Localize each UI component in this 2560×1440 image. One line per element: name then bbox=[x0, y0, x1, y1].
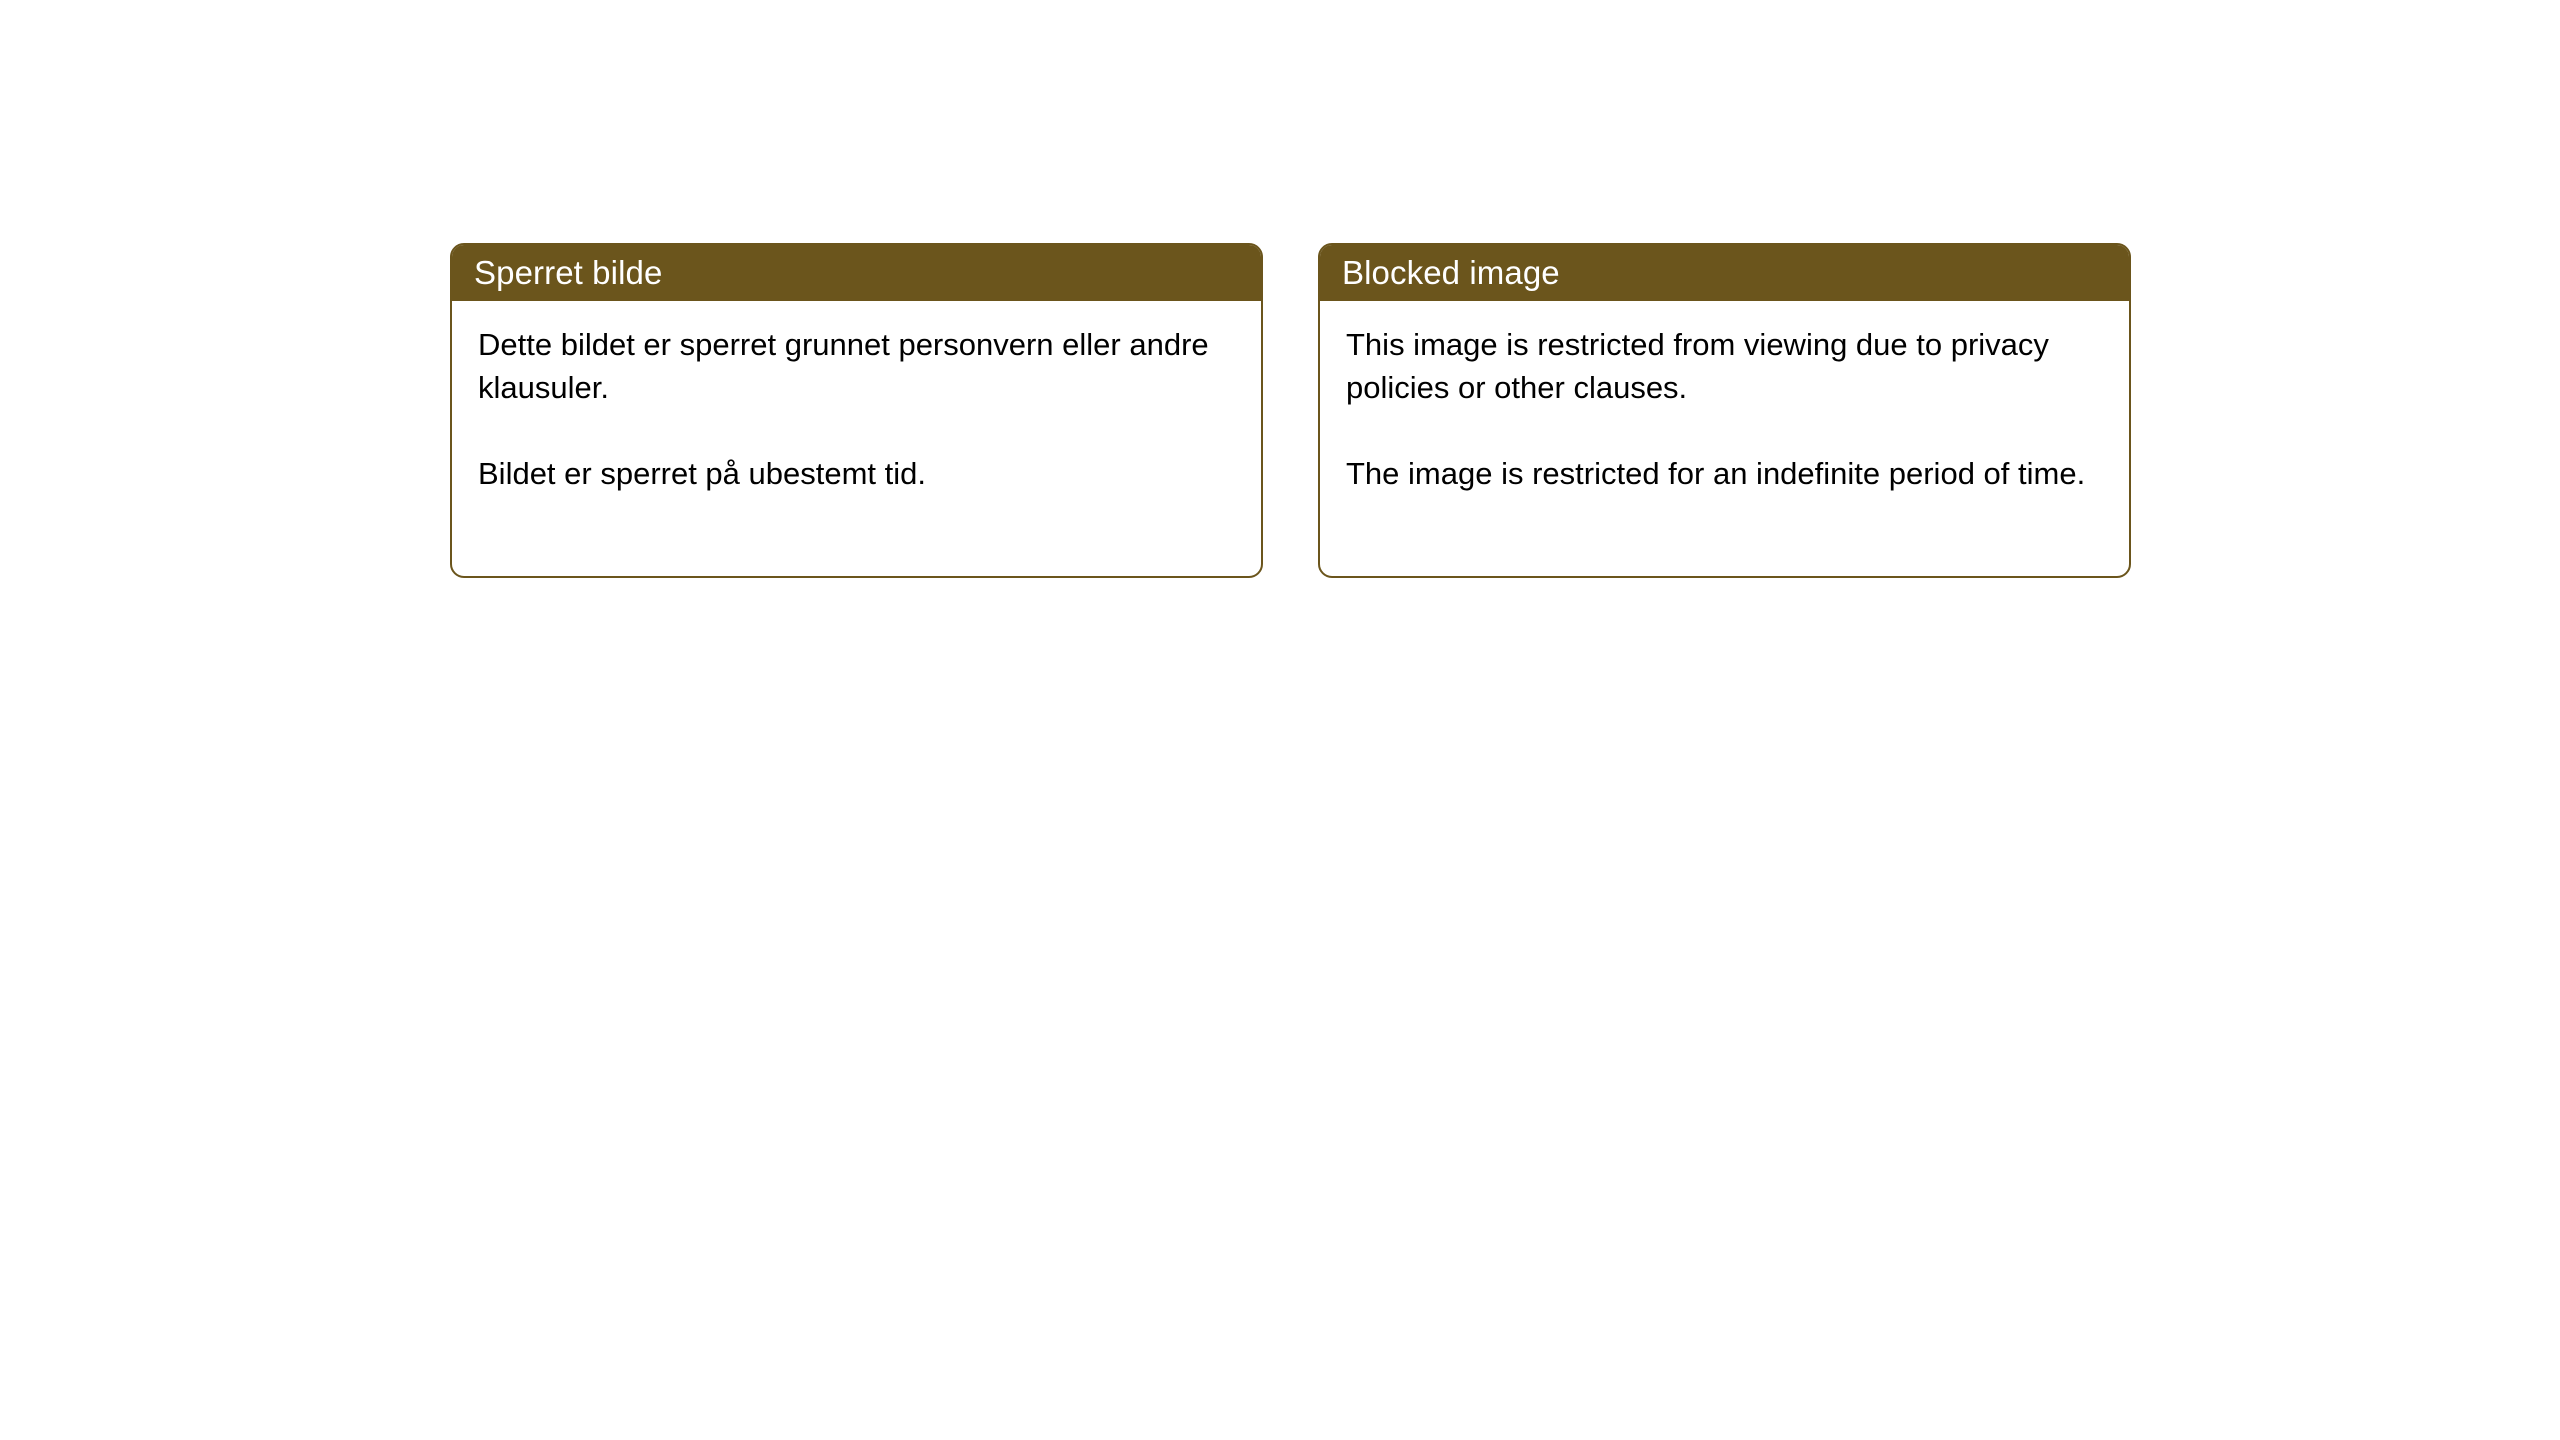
card-header-english: Blocked image bbox=[1318, 243, 2131, 301]
blocked-image-card-norwegian: Sperret bilde Dette bildet er sperret gr… bbox=[450, 243, 1263, 578]
card-paragraph-primary-norwegian: Dette bildet er sperret grunnet personve… bbox=[478, 323, 1235, 409]
card-title-english: Blocked image bbox=[1342, 256, 1560, 289]
card-paragraph-secondary-norwegian: Bildet er sperret på ubestemt tid. bbox=[478, 452, 1235, 495]
card-paragraph-primary-english: This image is restricted from viewing du… bbox=[1346, 323, 2103, 409]
paragraph-spacer bbox=[1346, 409, 2103, 452]
card-paragraph-secondary-english: The image is restricted for an indefinit… bbox=[1346, 452, 2103, 495]
blocked-image-notice-group: Sperret bilde Dette bildet er sperret gr… bbox=[450, 243, 2131, 578]
card-body-english: This image is restricted from viewing du… bbox=[1320, 301, 2129, 576]
card-title-norwegian: Sperret bilde bbox=[474, 256, 662, 289]
card-header-norwegian: Sperret bilde bbox=[450, 243, 1263, 301]
blocked-image-card-english: Blocked image This image is restricted f… bbox=[1318, 243, 2131, 578]
card-body-norwegian: Dette bildet er sperret grunnet personve… bbox=[452, 301, 1261, 576]
paragraph-spacer bbox=[478, 409, 1235, 452]
